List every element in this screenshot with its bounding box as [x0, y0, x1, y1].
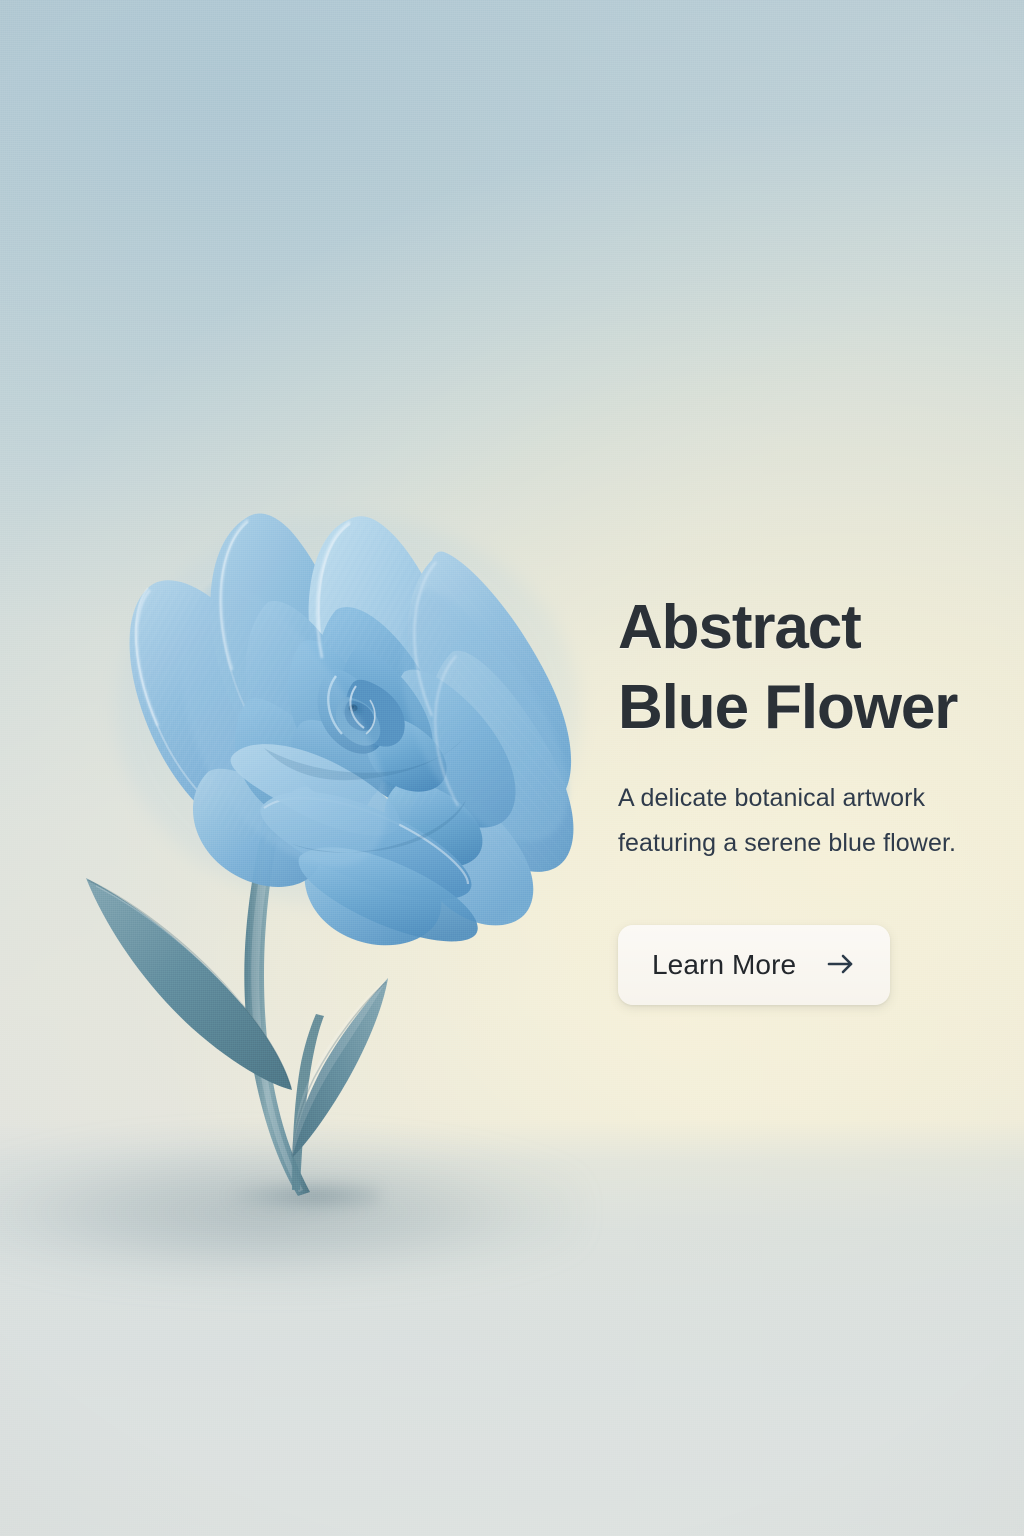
- learn-more-button[interactable]: Learn More: [618, 925, 890, 1005]
- page-title: Abstract Blue Flower: [618, 588, 978, 748]
- poster-canvas: Abstract Blue Flower A delicate botanica…: [0, 0, 1024, 1536]
- content-panel: Abstract Blue Flower A delicate botanica…: [618, 588, 978, 866]
- page-description: A delicate botanical artwork featuring a…: [618, 776, 978, 866]
- arrow-right-icon: [826, 953, 856, 978]
- learn-more-label: Learn More: [652, 949, 796, 981]
